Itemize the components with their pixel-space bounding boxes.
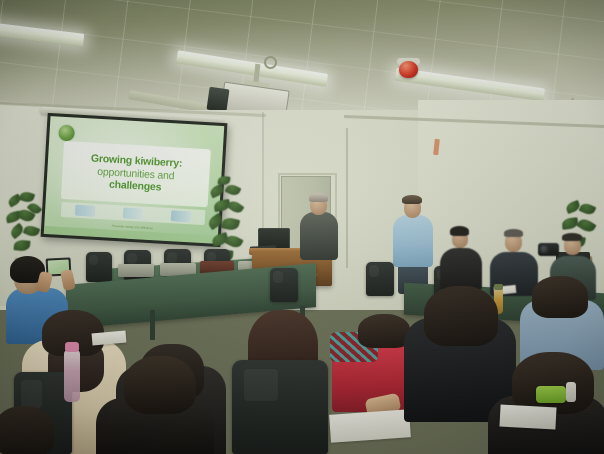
slide-title-text: Growing kiwiberry: opportunities and cha… [86,152,186,195]
chair [232,360,328,454]
camera-lens-icon [540,245,549,254]
presenter-left-torso [300,212,338,260]
small-bottle [566,382,576,402]
wall-corner-seam-right [346,128,348,268]
bottle-cap [65,342,79,352]
projection-screen: Growing kiwiberry: opportunities and cha… [41,113,228,247]
hair [532,276,588,318]
partner-logo-2-icon [123,207,144,219]
notepad-papers [329,409,411,443]
thermos-cap [494,284,503,290]
attendee-edge-left [0,406,54,454]
hair [124,356,196,414]
presenter-left-hair [309,193,328,202]
red-alarm-dome-icon [399,61,418,78]
hair [424,286,498,346]
handout-paper [92,331,127,346]
presenter-right-torso [393,215,433,267]
notepad-papers [499,405,556,430]
projected-slide: Growing kiwiberry: opportunities and cha… [44,116,225,244]
presenter-right-hair [402,195,422,204]
photo-conference-room-presentation: Growing kiwiberry: opportunities and cha… [0,0,604,454]
slide-title-card: Growing kiwiberry: opportunities and cha… [61,141,211,207]
chair [86,252,112,282]
chair [366,262,394,296]
hair [512,352,594,414]
hair [358,314,410,348]
partner-logo-3-icon [171,210,192,222]
partner-logo-1-icon [75,205,96,217]
desk-nameplate [118,264,154,277]
table-leg [150,310,155,340]
chair [270,268,298,302]
green-phone-case[interactable] [536,386,566,403]
projector-lens [206,87,229,113]
water-bottle-pink-cap [64,350,80,402]
